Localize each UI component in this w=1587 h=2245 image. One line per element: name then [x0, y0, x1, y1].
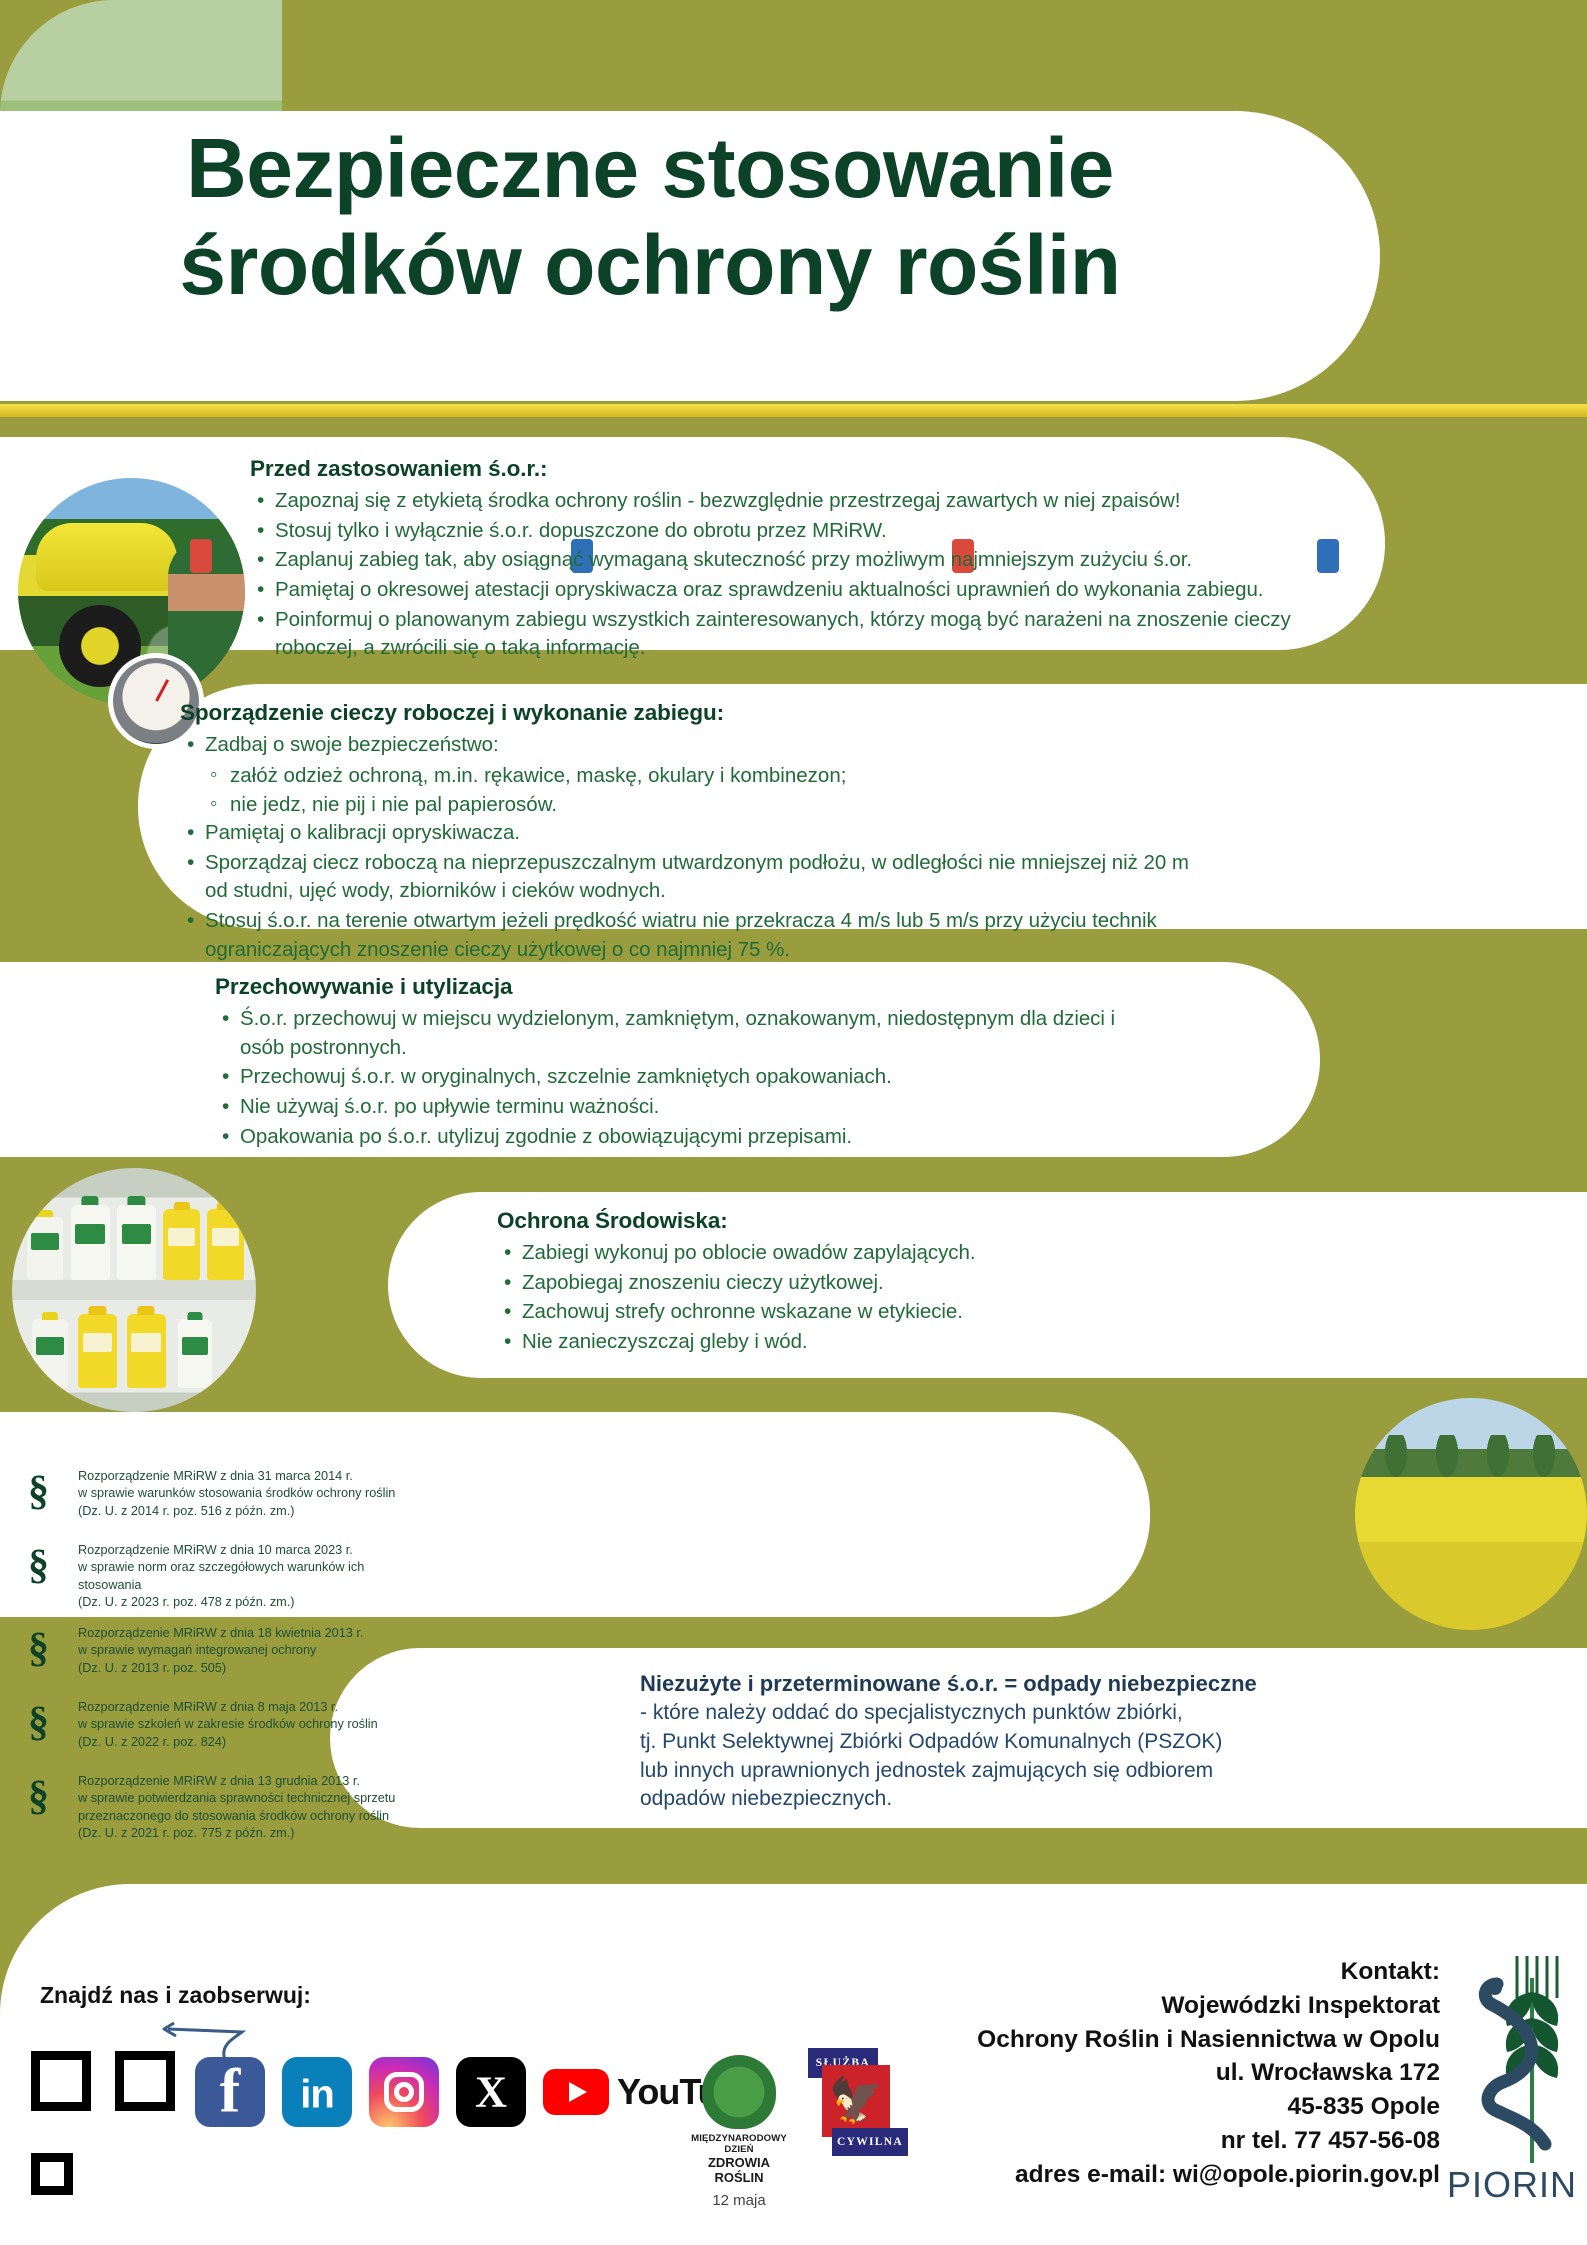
list-item: Poinformuj o planowanym zabiegu wszystki…	[250, 606, 1310, 663]
list-item: Sporządzaj ciecz roboczą na nieprzepuszc…	[180, 849, 1215, 906]
leaf-icon	[702, 2055, 776, 2129]
legal-line: (Dz. U. z 2023 r. poz. 478 z późn. zm.)	[78, 1594, 418, 1611]
legal-line: (Dz. U. z 2021 r. poz. 775 z późn. zm.)	[78, 1825, 418, 1842]
hazardous-waste-body: - które należy oddać do specjalistycznyc…	[640, 1699, 1430, 1814]
pesticide-bottles-shelf-photo	[12, 1168, 256, 1412]
paragraph-icon: §	[28, 1470, 49, 1512]
legal-line: (Dz. U. z 2014 r. poz. 516 z późn. zm.)	[78, 1503, 418, 1520]
paragraph-icon: §	[28, 1701, 49, 1743]
bottle-insecticide-2	[207, 1209, 244, 1280]
bullet-list-environment: Zabiegi wykonuj po oblocie owadów zapyla…	[497, 1239, 1197, 1357]
polish-eagle-icon: 🦅	[822, 2065, 890, 2137]
legal-line: w sprawie norm oraz szczegółowych warunk…	[78, 1559, 418, 1594]
list-item: nie jedz, nie pij i nie pal papierosów.	[205, 790, 1215, 819]
title-line-2: środków ochrony roślin	[0, 217, 1300, 314]
contact-label: Kontakt:	[977, 1955, 1440, 1989]
hazardous-waste-line-2: tj. Punkt Selektywnej Zbiórki Odpadów Ko…	[640, 1728, 1430, 1757]
contact-phone: nr tel. 77 457-56-08	[977, 2124, 1440, 2158]
paragraph-icon: §	[28, 1775, 49, 1817]
legal-line: w sprawie warunków stosowania środków oc…	[78, 1485, 418, 1502]
youtube-play-button	[543, 2069, 609, 2115]
list-item: Nie używaj ś.o.r. po upływie terminu waż…	[215, 1093, 1145, 1122]
plant-health-line-2: ZDROWIA ROŚLIN	[683, 2155, 795, 2185]
linkedin-icon[interactable]: in	[282, 2057, 352, 2127]
bottle-herbicide-1	[71, 1205, 110, 1281]
legal-item: § Rozporządzenie MRiRW z dnia 13 grudnia…	[28, 1773, 418, 1842]
bullet-list-storage: Ś.o.r. przechowuj w miejscu wydzielonym,…	[215, 1005, 1145, 1151]
bottle-lower-2	[78, 1314, 117, 1387]
section-storage: Przechowywanie i utylizacja Ś.o.r. przec…	[215, 974, 1145, 1152]
hazardous-waste-line-4: odpadów niebezpiecznych.	[640, 1785, 1430, 1814]
hazardous-waste-line-3: lub innych uprawnionych jednostek zajmuj…	[640, 1757, 1430, 1786]
section-before-use: Przed zastosowaniem ś.o.r.: Zapoznaj się…	[250, 456, 1310, 664]
legal-item: § Rozporządzenie MRiRW z dnia 31 marca 2…	[28, 1468, 418, 1528]
list-item: Opakowania po ś.o.r. utylizuj zgodnie z …	[215, 1123, 1145, 1152]
legal-line: w sprawie potwierdzania sprawności techn…	[78, 1790, 418, 1807]
list-item: Zachowuj strefy ochronne wskazane w etyk…	[497, 1298, 1197, 1327]
instagram-lens	[394, 2082, 414, 2102]
bottle-lower-3	[127, 1314, 166, 1387]
legal-references-list: § Rozporządzenie MRiRW z dnia 31 marca 2…	[28, 1468, 418, 1856]
instagram-icon[interactable]	[369, 2057, 439, 2127]
legal-item: § Rozporządzenie MRiRW z dnia 10 marca 2…	[28, 1542, 418, 1611]
tree-4	[1531, 1435, 1557, 1481]
legal-line: w sprawie wymagań integrowanej ochrony	[78, 1642, 418, 1659]
bullet-list-preparation: Zadbaj o swoje bezpieczeństwo:	[180, 731, 1215, 760]
legal-line: Rozporządzenie MRiRW z dnia 8 maja 2013 …	[78, 1699, 418, 1716]
plant-health-day-logo: MIĘDZYNARODOWY DZIEŃ ZDROWIA ROŚLIN 12 m…	[683, 2055, 795, 2209]
poster-root: Bezpieczne stosowanie środków ochrony ro…	[0, 0, 1587, 2245]
bottle-lower-4	[178, 1319, 212, 1387]
legal-item: § Rozporządzenie MRiRW z dnia 8 maja 201…	[28, 1699, 418, 1759]
legal-line: w sprawie szkoleń w zakresie środków och…	[78, 1716, 418, 1733]
list-item: Zaplanuj zabieg tak, aby osiągnąć wymaga…	[250, 546, 1310, 575]
qr-finder-bottom-left	[31, 2153, 73, 2195]
plant-health-line-1: MIĘDZYNARODOWY DZIEŃ	[683, 2133, 795, 2155]
list-item: Przechowuj ś.o.r. w oryginalnych, szczel…	[215, 1063, 1145, 1092]
contact-block: Kontakt: Wojewódzki Inspektorat Ochrony …	[977, 1955, 1440, 2192]
rapeseed-field-photo	[1355, 1398, 1587, 1630]
bullet-list-preparation-cont: Pamiętaj o kalibracji opryskiwacza. Spor…	[180, 819, 1215, 964]
hazardous-waste-line-1: - które należy oddać do specjalistycznyc…	[640, 1699, 1430, 1728]
section-preparation: Sporządzenie cieczy roboczej i wykonanie…	[180, 700, 1215, 965]
list-item: Zapobiegaj znoszeniu cieczy użytkowej.	[497, 1269, 1197, 1298]
contact-postal-city: 45-835 Opole	[977, 2090, 1440, 2124]
list-item: Pamiętaj o okresowej atestacji opryskiwa…	[250, 576, 1310, 605]
bottle-herbicide-2	[117, 1205, 156, 1281]
bottle-fungicide	[27, 1217, 64, 1280]
bottle-insecticide-1	[163, 1209, 200, 1280]
piorin-emblem-icon	[1447, 1948, 1569, 2178]
social-links: f in X YouTube	[195, 2057, 759, 2127]
legal-item: § Rozporządzenie MRiRW z dnia 18 kwietni…	[28, 1625, 418, 1685]
list-item: Pamiętaj o kalibracji opryskiwacza.	[180, 819, 1215, 848]
x-glyph: X	[475, 2067, 507, 2118]
civil-service-bottom-label: CYWILNA	[832, 2128, 908, 2156]
legal-line: Rozporządzenie MRiRW z dnia 31 marca 201…	[78, 1468, 418, 1485]
list-item: Nie zanieczyszczaj gleby i wód.	[497, 1328, 1197, 1357]
section-heading-before-use: Przed zastosowaniem ś.o.r.:	[250, 456, 1310, 482]
bottle-lower-1	[32, 1319, 69, 1387]
section-environment: Ochrona Środowiska: Zabiegi wykonuj po o…	[497, 1208, 1197, 1358]
piorin-wordmark: PIORIN	[1447, 2164, 1569, 2206]
legal-line: Rozporządzenie MRiRW z dnia 10 marca 202…	[78, 1542, 418, 1559]
section-heading-environment: Ochrona Środowiska:	[497, 1208, 1197, 1234]
plant-health-line-3: 12 maja	[683, 2192, 795, 2209]
facebook-glyph: f	[220, 2066, 241, 2119]
piorin-logo: PIORIN	[1447, 1948, 1569, 2210]
title-line-1: Bezpieczne stosowanie	[0, 120, 1300, 217]
legal-line: Rozporządzenie MRiRW z dnia 13 grudnia 2…	[78, 1773, 418, 1790]
section-hazardous-waste: Niezużyte i przeterminowane ś.o.r. = odp…	[640, 1671, 1430, 1814]
tree-1	[1383, 1435, 1409, 1481]
tree-3	[1485, 1435, 1511, 1481]
section-heading-storage: Przechowywanie i utylizacja	[215, 974, 1145, 1000]
paragraph-icon: §	[28, 1544, 49, 1586]
list-item: Ś.o.r. przechowuj w miejscu wydzielonym,…	[215, 1005, 1145, 1062]
list-item: Zapoznaj się z etykietą środka ochrony r…	[250, 487, 1310, 516]
hazardous-waste-heading: Niezużyte i przeterminowane ś.o.r. = odp…	[640, 1671, 1430, 1697]
section-heading-preparation: Sporządzenie cieczy roboczej i wykonanie…	[180, 700, 1215, 726]
contact-line-2: Ochrony Roślin i Nasiennictwa w Opolu	[977, 2023, 1440, 2057]
tree-2	[1434, 1435, 1460, 1481]
linkedin-glyph: in	[300, 2072, 334, 2117]
list-item: Stosuj tylko i wyłącznie ś.o.r. dopuszcz…	[250, 517, 1310, 546]
find-us-label: Znajdź nas i zaobserwuj:	[40, 1982, 311, 2009]
contact-email: adres e-mail: wi@opole.piorin.gov.pl	[977, 2158, 1440, 2192]
eagle-glyph: 🦅	[829, 2079, 884, 2123]
facebook-icon[interactable]: f	[195, 2057, 265, 2127]
legal-line: (Dz. U. z 2013 r. poz. 505)	[78, 1660, 418, 1677]
paragraph-icon: §	[28, 1627, 49, 1669]
bullet-list-before-use: Zapoznaj się z etykietą środka ochrony r…	[250, 487, 1310, 663]
legal-line: Rozporządzenie MRiRW z dnia 18 kwietnia …	[78, 1625, 418, 1642]
list-item: Zabiegi wykonuj po oblocie owadów zapyla…	[497, 1239, 1197, 1268]
sub-bullet-list-preparation: załóż odzież ochroną, m.in. rękawice, ma…	[205, 761, 1215, 819]
legal-line: przeznaczonego do stosowania środków och…	[78, 1808, 418, 1825]
list-item: Stosuj ś.o.r. na terenie otwartym jeżeli…	[180, 907, 1215, 964]
contact-line-1: Wojewódzki Inspektorat	[977, 1989, 1440, 2023]
qr-code[interactable]	[27, 2047, 179, 2199]
page-title: Bezpieczne stosowanie środków ochrony ro…	[0, 120, 1300, 315]
legal-line: (Dz. U. z 2022 r. poz. 824)	[78, 1734, 418, 1751]
list-item: załóż odzież ochroną, m.in. rękawice, ma…	[205, 761, 1215, 790]
contact-address: ul. Wrocławska 172	[977, 2056, 1440, 2090]
list-item: Zadbaj o swoje bezpieczeństwo:	[180, 731, 1215, 760]
x-twitter-icon[interactable]: X	[456, 2057, 526, 2127]
civil-service-logo: SŁUŻBA 🦅 CYWILNA	[808, 2048, 908, 2156]
